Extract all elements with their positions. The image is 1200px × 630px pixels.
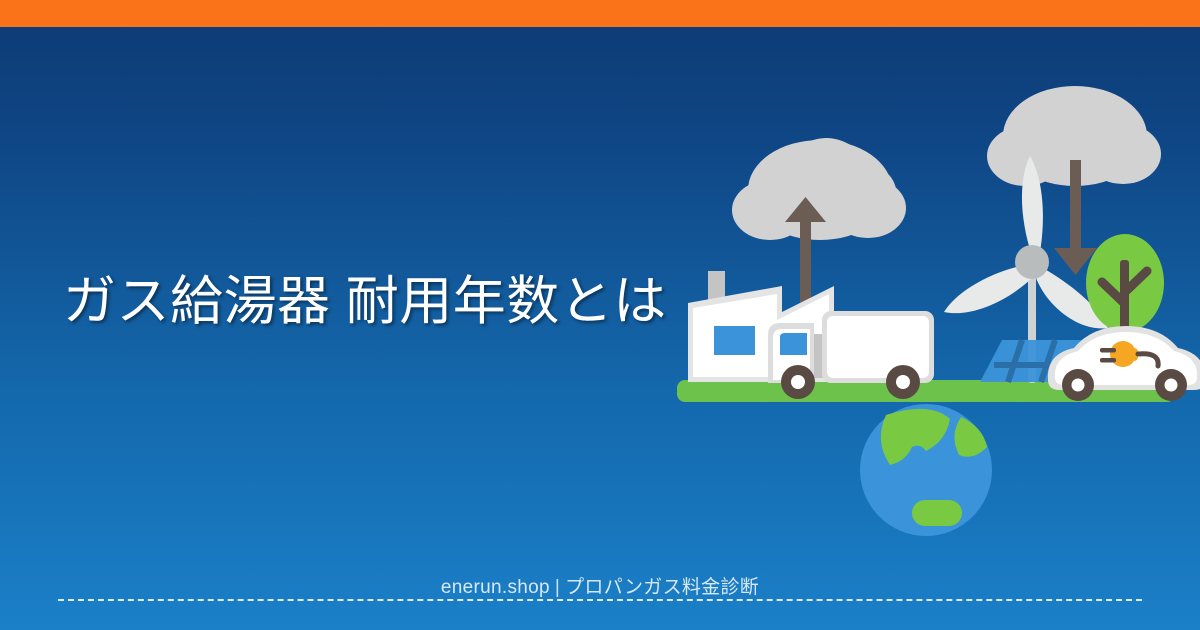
factory-window xyxy=(714,326,755,355)
globe-icon xyxy=(860,404,992,536)
footer-tagline: プロパンガス料金診断 xyxy=(565,577,759,598)
cloud-up-arrow-icon xyxy=(732,138,906,310)
page-title: ガス給湯器 耐用年数とは xyxy=(63,272,663,333)
og-image-canvas: ガス給湯器 耐用年数とは xyxy=(0,0,1200,630)
footer-divider xyxy=(58,599,1142,601)
electric-car-icon xyxy=(1048,326,1200,401)
footer-credit: enerun.shop|プロパンガス料金診断 xyxy=(0,572,1200,599)
footer-separator: | xyxy=(550,577,565,598)
orange-accent-bar xyxy=(0,0,1200,27)
eco-energy-illustration xyxy=(650,60,1200,560)
footer-site-name: enerun.shop xyxy=(441,577,550,598)
truck-window xyxy=(780,333,807,355)
